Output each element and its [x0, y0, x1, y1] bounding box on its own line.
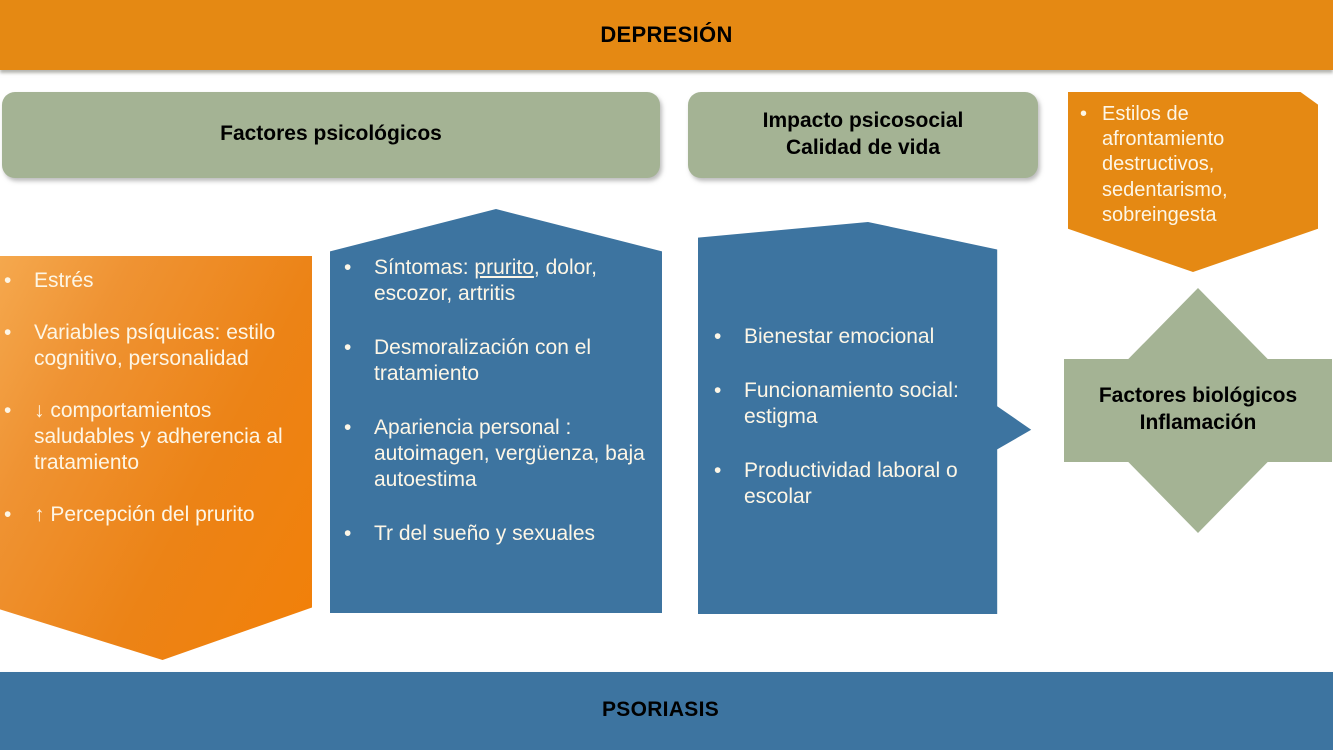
bullet-dot-icon: •: [4, 268, 11, 294]
box-quality-of-life: • Bienestar emocional • Funcionamiento s…: [698, 222, 1038, 614]
header-factores-psicologicos: Factores psicológicos: [2, 92, 660, 178]
list-item-text: Síntomas: prurito, dolor, escozor, artri…: [374, 256, 597, 305]
list-item: • Síntomas: prurito, dolor, escozor, art…: [334, 255, 656, 307]
list-item-text: Desmoralización con el tratamiento: [374, 336, 591, 385]
quality-of-life-bullet-list: • Bienestar emocional • Funcionamiento s…: [704, 324, 996, 538]
list-item: • Productividad laboral o escolar: [704, 458, 996, 510]
header-impacto-line2: Calidad de vida: [786, 136, 940, 159]
list-item: • Estrés: [0, 268, 304, 294]
bullet-dot-icon: •: [714, 324, 721, 350]
bottom-banner-title: PSORIASIS: [0, 698, 1327, 722]
list-item: • Desmoralización con el tratamiento: [334, 335, 656, 387]
list-item-text: Tr del sueño y sexuales: [374, 522, 595, 545]
list-item: • Estilos de afrontamiento destructivos,…: [1070, 102, 1308, 228]
bullet-dot-icon: •: [344, 255, 351, 281]
header-impacto-line1: Impacto psicosocial: [763, 109, 964, 132]
bullet-dot-icon: •: [714, 458, 721, 484]
bullet-dot-icon: •: [4, 502, 11, 528]
biological-factors-label: Factores biológicos Inflamación: [1064, 382, 1332, 437]
list-item-text: Productividad laboral o escolar: [744, 459, 958, 508]
box-coping-styles: • Estilos de afrontamiento destructivos,…: [1068, 92, 1318, 272]
list-item-text: Apariencia personal : autoimagen, vergüe…: [374, 416, 645, 491]
list-item-text: Estilos de afrontamiento destructivos, s…: [1102, 103, 1228, 226]
diagram-slide: DEPRESIÓN Factores psicológicos Impacto …: [0, 0, 1333, 750]
top-banner-depresion: DEPRESIÓN: [0, 0, 1333, 70]
list-item: • Tr del sueño y sexuales: [334, 521, 656, 547]
symptoms-prefix: Síntomas:: [374, 256, 474, 279]
bottom-banner-psoriasis: PSORIASIS: [0, 672, 1333, 750]
coping-styles-bullet-list: • Estilos de afrontamiento destructivos,…: [1070, 102, 1308, 228]
header-factores-psicologicos-label: Factores psicológicos: [2, 121, 660, 148]
list-item: • Bienestar emocional: [704, 324, 996, 350]
list-item: • Funcionamiento social: estigma: [704, 378, 996, 430]
bullet-dot-icon: •: [4, 320, 11, 346]
biological-factors-line1: Factores biológicos: [1099, 384, 1297, 407]
box-biological-factors: Factores biológicos Inflamación: [1064, 288, 1332, 533]
bullet-dot-icon: •: [4, 398, 11, 424]
list-item: • Apariencia personal : autoimagen, verg…: [334, 415, 656, 493]
header-impacto-psicosocial-label: Impacto psicosocial Calidad de vida: [688, 108, 1038, 162]
biological-factors-line2: Inflamación: [1140, 411, 1257, 434]
bullet-dot-icon: •: [344, 335, 351, 361]
list-item: • ↑ Percepción del prurito: [0, 502, 304, 528]
bullet-dot-icon: •: [1080, 102, 1087, 127]
bullet-dot-icon: •: [344, 521, 351, 547]
symptoms-bullet-list: • Síntomas: prurito, dolor, escozor, art…: [334, 255, 656, 575]
psychological-factors-bullet-list: • Estrés • Variables psíquicas: estilo c…: [0, 268, 304, 554]
list-item-text: Variables psíquicas: estilo cognitivo, p…: [34, 321, 275, 370]
header-impacto-psicosocial: Impacto psicosocial Calidad de vida: [688, 92, 1038, 178]
box-symptoms: • Síntomas: prurito, dolor, escozor, art…: [330, 209, 662, 613]
list-item: • ↓ comportamientos saludables y adheren…: [0, 398, 304, 476]
bullet-dot-icon: •: [344, 415, 351, 441]
list-item-text: ↓ comportamientos saludables y adherenci…: [34, 399, 283, 474]
bullet-dot-icon: •: [714, 378, 721, 404]
list-item-text: ↑ Percepción del prurito: [34, 503, 255, 526]
box-psychological-factors: • Estrés • Variables psíquicas: estilo c…: [0, 256, 312, 660]
list-item-text: Estrés: [34, 269, 94, 292]
top-banner-title: DEPRESIÓN: [0, 22, 1333, 48]
list-item-text: Funcionamiento social: estigma: [744, 379, 959, 428]
symptoms-underlined-term: prurito: [474, 256, 534, 279]
list-item-text: Bienestar emocional: [744, 325, 934, 348]
list-item: • Variables psíquicas: estilo cognitivo,…: [0, 320, 304, 372]
